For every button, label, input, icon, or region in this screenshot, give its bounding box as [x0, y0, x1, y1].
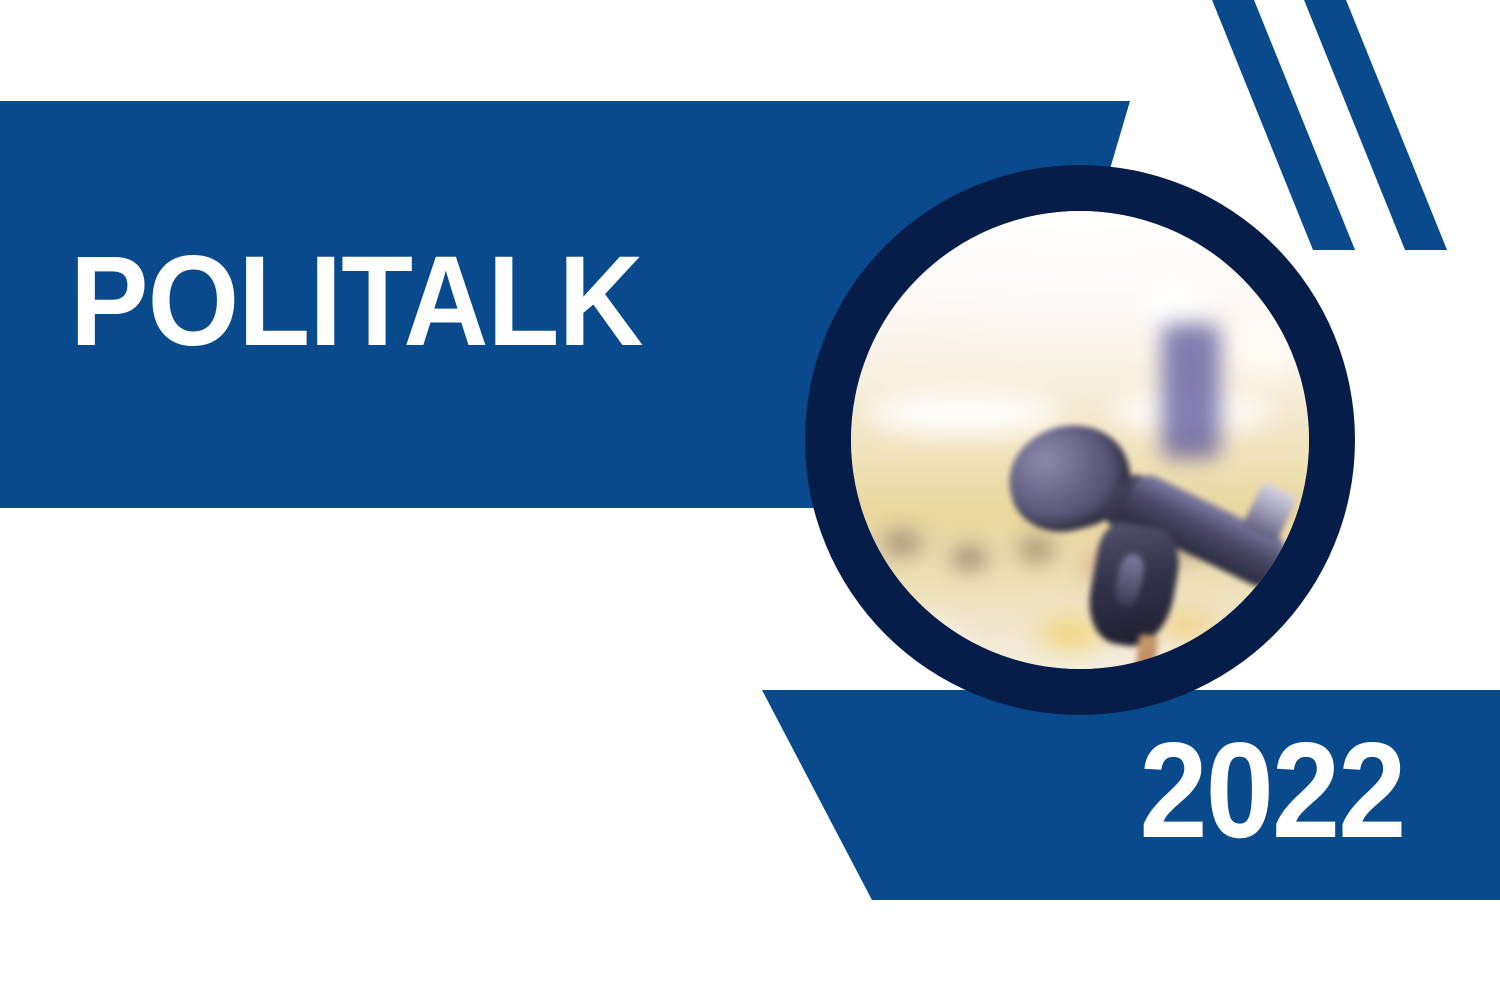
- microphone-photo: [851, 211, 1309, 669]
- photo-medallion-ring: [805, 165, 1355, 715]
- poster-canvas: POLITALK 2022: [0, 0, 1500, 1000]
- bokeh-highlight-b: [1234, 315, 1297, 378]
- photo-blur-wrapper: [851, 211, 1309, 669]
- poster-title: POLITALK: [70, 238, 643, 366]
- poster-year: 2022: [1140, 722, 1405, 858]
- microphone-icon: [1003, 392, 1309, 669]
